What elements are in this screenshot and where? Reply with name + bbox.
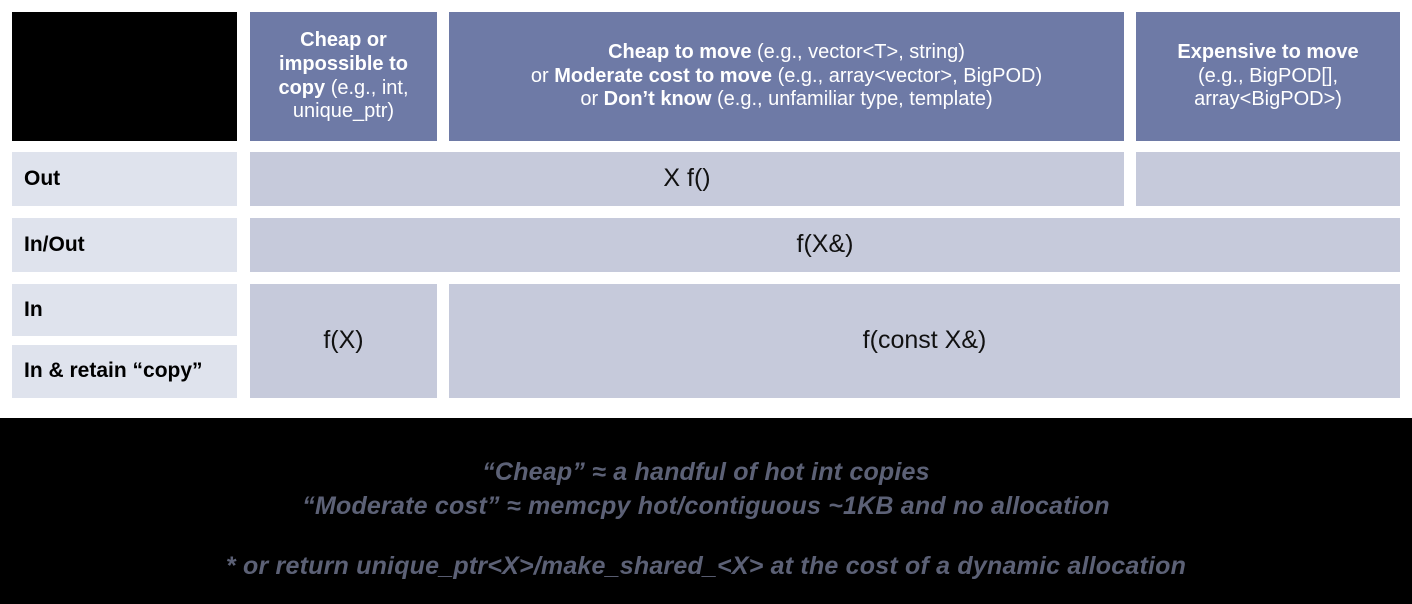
- cell-inout-f-xref: f(X&): [250, 218, 1400, 272]
- corner-black-block: [12, 12, 237, 141]
- row-label-inout: In/Out: [12, 218, 237, 272]
- header-col2-l2-rest: (e.g., array<vector>, BigPOD): [772, 65, 1042, 87]
- footer-note-moderate-cost: “Moderate cost” ≈ memcpy hot/contiguous …: [0, 492, 1412, 521]
- cell-inout-f-xref-text: f(X&): [797, 230, 854, 260]
- cell-in-f-x-text: f(X): [323, 326, 363, 356]
- cell-in-f-x: f(X): [250, 284, 437, 398]
- row-label-in-text: In: [24, 298, 43, 323]
- header-col2-l3-bold: Don’t know: [604, 88, 712, 110]
- header-col2-l2-bold: Moderate cost to move: [554, 65, 772, 87]
- header-col2-l3-rest: (e.g., unfamiliar type, template): [711, 88, 992, 110]
- footer-notes-panel: “Cheap” ≈ a handful of hot int copies “M…: [0, 418, 1412, 604]
- cell-out-x-f-text: X f(): [663, 164, 710, 194]
- footer-note-cheap: “Cheap” ≈ a handful of hot int copies: [0, 458, 1412, 487]
- row-label-out: Out: [12, 152, 237, 206]
- header-col2-l1-bold: Cheap to move: [608, 41, 751, 63]
- row-label-in-retain-copy: In & retain “copy”: [12, 345, 237, 398]
- cell-in-f-const-xref: f(const X&): [449, 284, 1400, 398]
- cell-out-expensive-empty: [1136, 152, 1400, 206]
- row-label-inout-text: In/Out: [24, 233, 85, 258]
- cell-in-f-const-xref-text: f(const X&): [863, 326, 987, 356]
- cell-out-x-f: X f(): [250, 152, 1124, 206]
- header-cheap-or-impossible-to-copy: Cheap or impossible to copy (e.g., int, …: [250, 12, 437, 141]
- header-col2-l3-pre: or: [580, 88, 603, 110]
- row-label-in-retain-copy-text: In & retain “copy”: [24, 359, 203, 384]
- header-col2-l1-rest: (e.g., vector<T>, string): [751, 41, 964, 63]
- slide-root: Cheap or impossible to copy (e.g., int, …: [0, 0, 1412, 604]
- header-col3-l3: array<BigPOD>): [1194, 88, 1342, 110]
- row-label-out-text: Out: [24, 167, 60, 192]
- header-col2-l2-pre: or: [531, 65, 554, 87]
- footer-note-unique-ptr: * or return unique_ptr<X>/make_shared_<X…: [0, 552, 1412, 581]
- row-label-in: In: [12, 284, 237, 336]
- header-col3-l1-bold: Expensive to move: [1177, 41, 1358, 63]
- header-cheap-moderate-dontknow: Cheap to move (e.g., vector<T>, string) …: [449, 12, 1124, 141]
- header-expensive-to-move: Expensive to move (e.g., BigPOD[], array…: [1136, 12, 1400, 141]
- header-col3-l2: (e.g., BigPOD[],: [1198, 65, 1338, 87]
